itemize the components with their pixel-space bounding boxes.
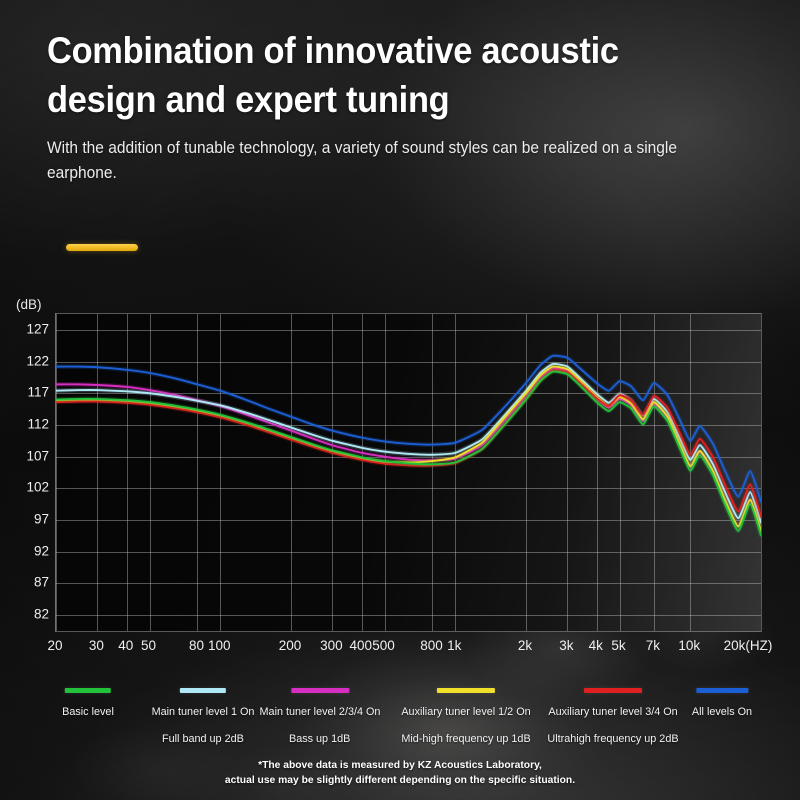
x-axis-tick: 10k <box>678 638 700 653</box>
y-axis-tick-labels: 12712211711210710297928782 <box>0 290 49 690</box>
x-axis-tick: 40 <box>118 638 133 653</box>
legend-swatch <box>437 688 495 693</box>
legend-item[interactable]: Basic level <box>61 688 115 720</box>
x-axis-tick: 400 <box>349 638 372 653</box>
x-axis-tick: 500 <box>372 638 395 653</box>
x-axis-tick: 20 <box>47 638 62 653</box>
slide-root: Combination of innovative acoustic desig… <box>0 0 800 800</box>
x-axis-tick: 7k <box>646 638 660 653</box>
legend-label: Main tuner level 2/3/4 On <box>260 706 381 718</box>
x-axis-tick: 2k <box>518 638 532 653</box>
page-title: Combination of innovative acoustic desig… <box>47 26 698 124</box>
x-axis-tick: 50 <box>141 638 156 653</box>
y-axis-tick: 82 <box>5 607 49 622</box>
x-axis-tick: 20k(HZ) <box>724 638 773 653</box>
legend-label: Auxiliary tuner level 1/2 On <box>401 706 530 718</box>
chart-legend: Basic levelMain tuner level 1 OnFull ban… <box>0 688 800 758</box>
grid-lines <box>56 314 761 631</box>
y-axis-tick: 97 <box>5 512 49 527</box>
legend-label: Basic level <box>62 706 114 718</box>
legend-item[interactable]: Main tuner level 1 OnFull band up 2dB <box>149 688 257 747</box>
legend-label: Main tuner level 1 On <box>152 706 255 718</box>
legend-sublabel: Full band up 2dB <box>162 733 244 745</box>
footnote-line-2: actual use may be slightly different dep… <box>0 774 800 789</box>
series-glow <box>56 356 761 502</box>
legend-swatch <box>180 688 226 693</box>
legend-sublabel: Bass up 1dB <box>289 733 350 745</box>
y-axis-tick: 127 <box>5 321 49 336</box>
footnote: *The above data is measured by KZ Acoust… <box>0 759 800 788</box>
legend-sublabel: Mid-high frequency up 1dB <box>401 733 530 745</box>
legend-swatch <box>291 688 349 693</box>
legend-item[interactable]: Auxiliary tuner level 3/4 OnUltrahigh fr… <box>544 688 682 747</box>
legend-sublabel: Ultrahigh frequency up 2dB <box>547 733 678 745</box>
y-axis-tick: 87 <box>5 575 49 590</box>
y-axis-tick: 122 <box>5 353 49 368</box>
x-axis-tick: 300 <box>320 638 343 653</box>
x-axis-tick: 80 <box>189 638 204 653</box>
x-axis-tick: 1k <box>447 638 461 653</box>
x-axis-tick: 3k <box>559 638 573 653</box>
x-axis-tick: 30 <box>89 638 104 653</box>
accent-divider <box>66 244 138 251</box>
legend-item[interactable]: Main tuner level 2/3/4 OnBass up 1dB <box>256 688 383 747</box>
page-subtitle: With the addition of tunable technology,… <box>47 136 686 186</box>
y-axis-tick: 102 <box>5 480 49 495</box>
legend-item[interactable]: Auxiliary tuner level 1/2 OnMid-high fre… <box>398 688 534 747</box>
x-axis-tick: 200 <box>279 638 302 653</box>
legend-swatch <box>584 688 642 693</box>
y-axis-tick: 112 <box>5 416 49 431</box>
x-axis-tick-labels: 20304050801002003004005008001k2k3k4k5k7k… <box>0 638 800 664</box>
legend-item[interactable]: All levels On <box>690 688 753 720</box>
y-axis-tick: 107 <box>5 448 49 463</box>
y-axis-tick: 92 <box>5 543 49 558</box>
legend-label: Auxiliary tuner level 3/4 On <box>548 706 677 718</box>
frequency-response-chart: (dB) 12712211711210710297928782 20304050… <box>0 290 800 690</box>
chart-plot-area <box>55 313 762 632</box>
x-axis-tick: 800 <box>420 638 443 653</box>
x-axis-tick: 100 <box>208 638 231 653</box>
x-axis-tick: 5k <box>611 638 625 653</box>
legend-swatch <box>65 688 111 693</box>
legend-swatch <box>696 688 748 693</box>
x-axis-tick: 4k <box>589 638 603 653</box>
legend-label: All levels On <box>692 706 752 718</box>
y-axis-tick: 117 <box>5 385 49 400</box>
footnote-line-1: *The above data is measured by KZ Acoust… <box>0 759 800 774</box>
